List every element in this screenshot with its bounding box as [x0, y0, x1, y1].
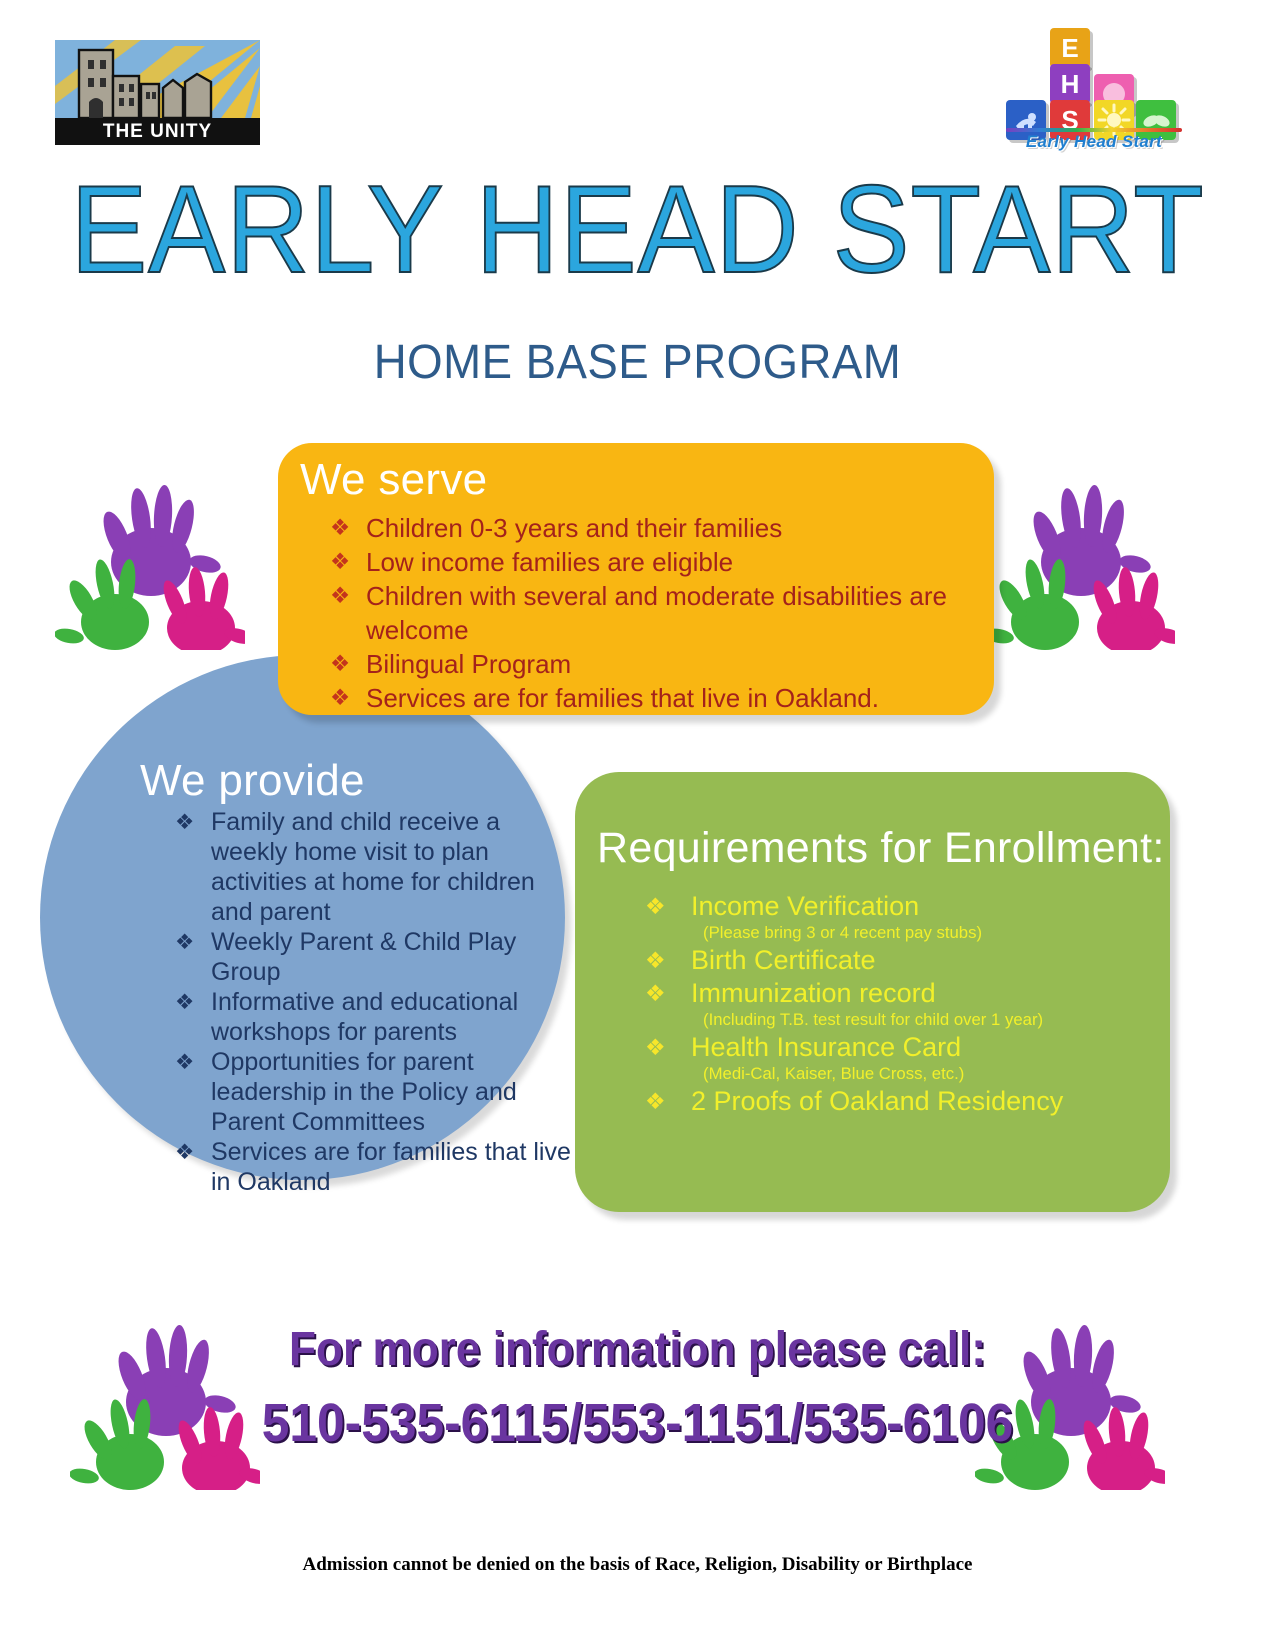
- early-head-start-logo: E H S Early Head Start: [1000, 28, 1185, 158]
- block-letter-h: H: [1050, 64, 1090, 104]
- bullet-diamond-icon: ❖: [645, 944, 666, 977]
- panel-heading-we-provide: We provide: [140, 755, 365, 807]
- list-item: ❖Immunization record(Including T.B. test…: [645, 977, 1145, 1031]
- bullet-diamond-icon: ❖: [645, 977, 666, 1010]
- list-item: ❖Children with several and moderate disa…: [330, 579, 980, 647]
- handprint-cluster-top-left: [55, 450, 245, 650]
- page-title: EARLY HEAD START: [45, 168, 1231, 292]
- list-item: ❖Weekly Parent & Child Play Group: [175, 927, 575, 987]
- panel-heading-requirements: Requirements for Enrollment:: [597, 820, 1165, 876]
- purple-handprint: [1028, 485, 1152, 596]
- list-item: ❖Health Insurance Card(Medi-Cal, Kaiser,…: [645, 1031, 1145, 1085]
- disclaimer-text: Admission cannot be denied on the basis …: [0, 1554, 1275, 1576]
- bullet-diamond-icon: ❖: [330, 681, 350, 715]
- list-item: ❖2 Proofs of Oakland Residency: [645, 1085, 1145, 1118]
- bullet-diamond-icon: ❖: [175, 1137, 194, 1167]
- unity-council-logo: THE UNITY COUNCIL: [55, 40, 260, 145]
- bullet-diamond-icon: ❖: [645, 1031, 666, 1064]
- bullet-diamond-icon: ❖: [175, 807, 194, 837]
- requirements-list: ❖Income Verification(Please bring 3 or 4…: [645, 890, 1145, 1118]
- bullet-diamond-icon: ❖: [645, 890, 666, 923]
- list-item-note: (Medi-Cal, Kaiser, Blue Cross, etc.): [691, 1064, 1145, 1085]
- list-item-note: (Please bring 3 or 4 recent pay stubs): [691, 923, 1145, 944]
- list-item: ❖Income Verification(Please bring 3 or 4…: [645, 890, 1145, 944]
- list-item: ❖Family and child receive a weekly home …: [175, 807, 575, 927]
- list-item: ❖Birth Certificate: [645, 944, 1145, 977]
- handprint-cluster-bottom-left: [70, 1290, 260, 1490]
- city-buildings-icon: [55, 40, 260, 118]
- green-handprint: [985, 558, 1079, 650]
- we-provide-list: ❖Family and child receive a weekly home …: [175, 807, 575, 1197]
- unity-council-name: THE UNITY COUNCIL: [55, 118, 260, 145]
- panel-requirements: Requirements for Enrollment: ❖Income Ver…: [575, 772, 1170, 1212]
- ehs-caption: Early Head Start: [1004, 132, 1184, 152]
- green-handprint: [55, 558, 149, 650]
- bullet-diamond-icon: ❖: [175, 927, 194, 957]
- panel-heading-we-serve: We serve: [300, 453, 487, 507]
- bullet-diamond-icon: ❖: [645, 1085, 666, 1118]
- list-item: ❖Informative and educational workshops f…: [175, 987, 575, 1047]
- handprint-cluster-bottom-right: [975, 1290, 1165, 1490]
- bullet-diamond-icon: ❖: [175, 987, 194, 1017]
- list-item: ❖Bilingual Program: [330, 647, 980, 681]
- panel-we-serve: We serve ❖Children 0-3 years and their f…: [278, 443, 994, 715]
- bullet-diamond-icon: ❖: [330, 579, 350, 613]
- call-to-action-text: For more information please call:: [51, 1322, 1224, 1378]
- block-letter-e: E: [1050, 28, 1090, 68]
- bullet-diamond-icon: ❖: [330, 647, 350, 681]
- list-item-note: (Including T.B. test result for child ov…: [691, 1010, 1145, 1031]
- list-item: ❖Low income families are eligible: [330, 545, 980, 579]
- handprint-cluster-top-right: [985, 450, 1175, 650]
- list-item: ❖Opportunities for parent leadership in …: [175, 1047, 575, 1137]
- bullet-diamond-icon: ❖: [330, 545, 350, 579]
- bullet-diamond-icon: ❖: [330, 511, 350, 545]
- we-serve-list: ❖Children 0-3 years and their families ❖…: [330, 511, 980, 715]
- purple-handprint: [98, 485, 222, 596]
- list-item: ❖Services are for families that live in …: [330, 681, 980, 715]
- list-item: ❖Services are for families that live in …: [175, 1137, 575, 1197]
- page-subtitle: HOME BASE PROGRAM: [32, 338, 1243, 388]
- bullet-diamond-icon: ❖: [175, 1047, 194, 1077]
- panel-we-provide: We provide ❖Family and child receive a w…: [40, 655, 565, 1180]
- phone-numbers: 510-535-6115/553-1151/535-6106: [51, 1392, 1224, 1454]
- list-item: ❖Children 0-3 years and their families: [330, 511, 980, 545]
